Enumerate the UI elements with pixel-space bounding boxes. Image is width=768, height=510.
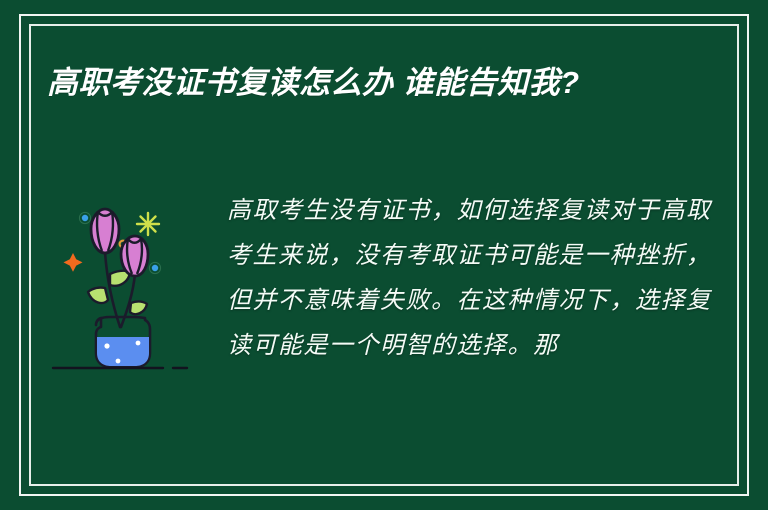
- tulips-in-jar-illustration: [47, 188, 217, 381]
- tulip-flower-upper: [91, 209, 119, 253]
- blue-dot-top-left-icon: [82, 215, 88, 221]
- body-block: 高取考生没有证书，如何选择复读对于高取考生来说，没有考取证书可能是一种挫折，但并…: [217, 188, 721, 368]
- content-row: 高取考生没有证书，如何选择复读对于高取考生来说，没有考取证书可能是一种挫折，但并…: [47, 188, 721, 381]
- poster-canvas: 高职考没证书复读怎么办 谁能告知我?: [0, 0, 768, 510]
- page-title: 高职考没证书复读怎么办 谁能告知我?: [47, 60, 687, 106]
- blue-dot-right-icon: [152, 265, 158, 271]
- leaves: [88, 271, 147, 314]
- title-block: 高职考没证书复读怎么办 谁能告知我?: [47, 60, 687, 106]
- body-paragraph: 高取考生没有证书，如何选择复读对于高取考生来说，没有考取证书可能是一种挫折，但并…: [227, 188, 721, 368]
- tulip-flower-lower: [121, 236, 148, 276]
- orange-star-icon: [64, 253, 83, 272]
- jar-water: [97, 337, 149, 366]
